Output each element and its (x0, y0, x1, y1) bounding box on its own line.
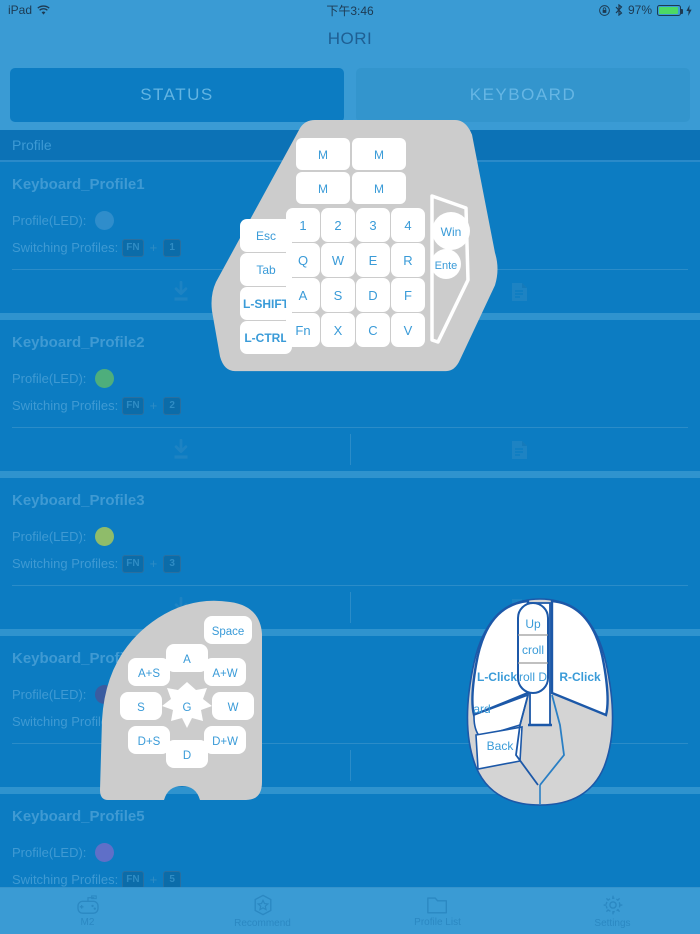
bottom-tab-profile-list[interactable]: Profile List (350, 888, 525, 934)
profile-name: Keyboard_Profile3 (12, 492, 688, 509)
segmented-tab-bar: STATUS KEYBOARD (0, 58, 700, 132)
download-icon (168, 437, 194, 463)
tab-keyboard[interactable]: KEYBOARD (356, 68, 690, 122)
download-icon (168, 753, 194, 779)
profile-actions (12, 427, 688, 471)
number-keycap: 2 (163, 397, 181, 415)
profile-scroll-list[interactable]: Profile Keyboard_Profile1 Profile(LED): … (0, 130, 700, 887)
profile-led-row: Profile(LED): (12, 365, 688, 392)
bluetooth-icon (615, 4, 623, 16)
navigation-bar: HORI (0, 20, 700, 58)
plus-sign: + (150, 398, 158, 413)
profile-switch-row: Switching Profiles: FN + 1 (12, 234, 688, 261)
profile-switch-row: Switching Profiles: FN + 4 (12, 708, 688, 735)
bottom-tab-label: Recommend (234, 918, 291, 929)
bottom-tab-recommend[interactable]: Recommend (175, 888, 350, 934)
document-button[interactable] (350, 270, 688, 313)
gear-icon (602, 894, 624, 916)
switching-profiles-label: Switching Profiles: (12, 398, 118, 413)
profile-led-swatch (95, 211, 114, 230)
profile-led-swatch (95, 527, 114, 546)
profile-name: Keyboard_Profile5 (12, 808, 688, 825)
profile-card-3[interactable]: Keyboard_Profile3 Profile(LED): Switchin… (0, 478, 700, 636)
switching-profiles-label: Switching Profiles: (12, 556, 118, 571)
profile-card-1[interactable]: Keyboard_Profile1 Profile(LED): Switchin… (0, 162, 700, 320)
profile-name: Keyboard_Profile4 (12, 650, 688, 667)
profile-switch-row: Switching Profiles: FN + 2 (12, 392, 688, 419)
fn-keycap: FN (122, 555, 143, 573)
profile-led-label: Profile(LED): (12, 687, 86, 702)
profile-switch-row: Switching Profiles: FN + 5 (12, 866, 688, 887)
bottom-tab-m2[interactable]: M2 (0, 888, 175, 934)
profile-actions (12, 743, 688, 787)
charging-bolt-icon (686, 5, 692, 16)
switching-profiles-label: Switching Profiles: (12, 872, 118, 887)
fn-keycap: FN (122, 239, 143, 257)
profile-led-row: Profile(LED): (12, 523, 688, 550)
profile-card-2[interactable]: Keyboard_Profile2 Profile(LED): Switchin… (0, 320, 700, 478)
bottom-tab-label: Profile List (414, 917, 461, 928)
bottom-tab-label: M2 (81, 917, 95, 928)
download-button[interactable] (12, 744, 350, 787)
status-bar: iPad 下午3:46 97% (0, 0, 700, 20)
battery-icon (657, 5, 681, 16)
profile-led-swatch (95, 843, 114, 862)
profile-led-label: Profile(LED): (12, 845, 86, 860)
bottom-tab-settings[interactable]: Settings (525, 888, 700, 934)
profile-actions (12, 269, 688, 313)
download-button[interactable] (12, 428, 350, 471)
profile-led-row: Profile(LED): (12, 207, 688, 234)
document-icon (507, 438, 531, 462)
number-keycap: 4 (163, 713, 181, 731)
profile-card-5[interactable]: Keyboard_Profile5 Profile(LED): Switchin… (0, 794, 700, 887)
bottom-tab-bar: M2 Recommend Profile List Settings (0, 887, 700, 934)
download-button[interactable] (12, 270, 350, 313)
section-header-label: Profile (12, 137, 52, 153)
fn-keycap: FN (122, 871, 143, 888)
profile-actions (12, 585, 688, 629)
status-bar-clock: 下午3:46 (0, 2, 700, 19)
profile-led-label: Profile(LED): (12, 213, 86, 228)
number-keycap: 1 (163, 239, 181, 257)
document-button[interactable] (350, 744, 688, 787)
download-button[interactable] (12, 586, 350, 629)
profile-led-swatch (95, 685, 114, 704)
profile-led-row: Profile(LED): (12, 839, 688, 866)
document-icon (507, 596, 531, 620)
document-button[interactable] (350, 428, 688, 471)
profile-name: Keyboard_Profile2 (12, 334, 688, 351)
star-badge-icon (252, 894, 274, 916)
battery-percent-label: 97% (628, 3, 652, 17)
fn-keycap: FN (122, 397, 143, 415)
rotation-lock-icon (599, 5, 610, 16)
plus-sign: + (150, 556, 158, 571)
section-header-profile: Profile (0, 130, 700, 162)
plus-sign: + (150, 872, 158, 887)
profile-name: Keyboard_Profile1 (12, 176, 688, 193)
profile-led-label: Profile(LED): (12, 529, 86, 544)
bottom-tab-label: Settings (594, 918, 630, 929)
profile-card-4[interactable]: Keyboard_Profile4 Profile(LED): Switchin… (0, 636, 700, 794)
tab-status[interactable]: STATUS (10, 68, 344, 122)
status-bar-right: 97% (599, 3, 692, 17)
page-title: HORI (328, 29, 373, 49)
switching-profiles-label: Switching Profiles: (12, 240, 118, 255)
plus-sign: + (150, 714, 158, 729)
number-keycap: 5 (163, 871, 181, 888)
status-bar-left: iPad (8, 3, 50, 17)
gamepad-icon (76, 895, 100, 915)
folder-icon (426, 894, 450, 915)
plus-sign: + (150, 240, 158, 255)
profile-led-row: Profile(LED): (12, 681, 688, 708)
download-icon (168, 279, 194, 305)
document-icon (507, 754, 531, 778)
profile-led-label: Profile(LED): (12, 371, 86, 386)
switching-profiles-label: Switching Profiles: (12, 714, 118, 729)
document-icon (507, 280, 531, 304)
download-icon (168, 595, 194, 621)
wifi-icon (37, 5, 50, 16)
device-label: iPad (8, 3, 32, 17)
document-button[interactable] (350, 586, 688, 629)
number-keycap: 3 (163, 555, 181, 573)
profile-switch-row: Switching Profiles: FN + 3 (12, 550, 688, 577)
fn-keycap: FN (122, 713, 143, 731)
profile-led-swatch (95, 369, 114, 388)
